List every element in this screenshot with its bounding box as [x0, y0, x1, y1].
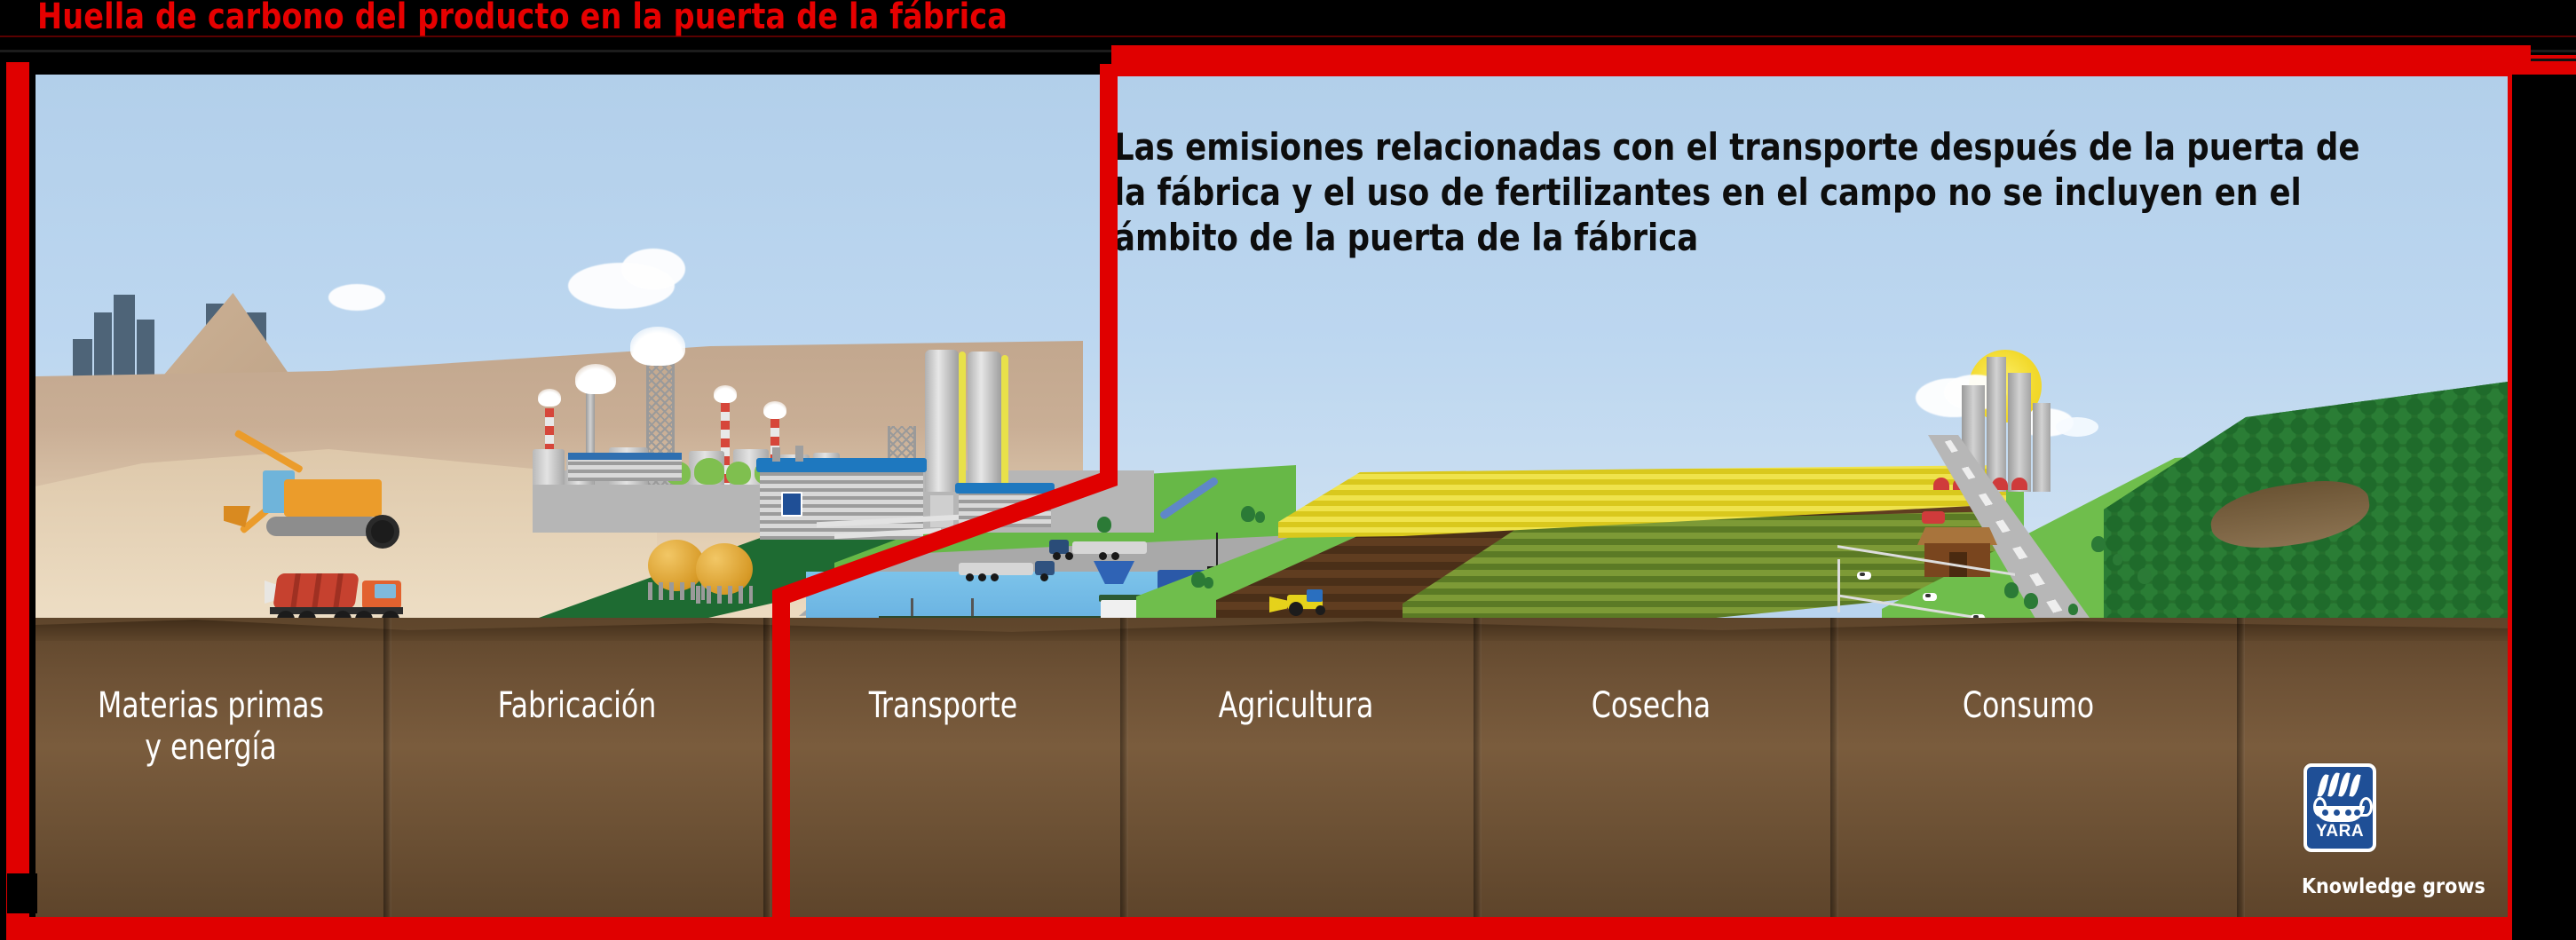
absorber-tower	[925, 350, 959, 492]
excavator-icon	[225, 463, 403, 545]
sphere-legs	[696, 586, 753, 604]
yara-logo-icon: YARA	[2303, 763, 2376, 852]
cloud-icon	[328, 284, 385, 311]
yara-wordmark: YARA	[2307, 822, 2373, 841]
stage-label-materias-primas: Materias primas y energía	[57, 685, 366, 769]
selection-handle[interactable]	[7, 873, 37, 913]
cloud-icon	[621, 249, 685, 289]
plant-chimney	[772, 447, 780, 462]
stage-divider	[1474, 618, 1482, 940]
silo	[930, 495, 953, 527]
tree-icon	[1255, 511, 1265, 523]
absorber-tower	[968, 352, 1001, 492]
plant-yara-sign	[781, 492, 802, 517]
slide-canvas: Huella de carbono del producto en la pue…	[0, 0, 2576, 940]
plant-annex	[959, 490, 1051, 527]
stage-label-agricultura: Agricultura	[1140, 685, 1452, 727]
title-bar: Huella de carbono del producto en la pue…	[0, 0, 2576, 55]
brand-block: YARA Knowledge grows	[2303, 763, 2512, 940]
tower-pipe	[1001, 355, 1008, 492]
stage-divider	[383, 618, 391, 940]
tractor-icon	[1269, 589, 1331, 616]
plant-chimney	[795, 446, 803, 462]
stage-label-fabricacion: Fabricación	[409, 685, 745, 727]
car-icon	[1922, 511, 1945, 524]
soil-cross-section	[36, 618, 2512, 940]
tower-pipe	[959, 352, 966, 492]
tree-icon	[2137, 568, 2152, 584]
stage-divider	[2237, 618, 2245, 940]
tree-icon	[2068, 604, 2078, 615]
cow-icon	[1923, 593, 1937, 601]
scope-top-band-line	[1145, 59, 2576, 61]
right-margin	[2512, 75, 2576, 940]
title-divider	[0, 50, 2576, 52]
tree-icon	[2091, 536, 2106, 552]
tree-icon	[2113, 554, 2122, 565]
stage-divider	[763, 618, 771, 940]
tree-icon	[1097, 517, 1111, 533]
stage-label-cosecha: Cosecha	[1495, 685, 1807, 727]
stage-label-transporte: Transporte	[789, 685, 1098, 727]
stage-label-consumo: Consumo	[1853, 685, 2204, 727]
brand-tagline: Knowledge grows	[2302, 875, 2488, 898]
plant-annex-roof	[955, 483, 1055, 494]
stage-divider	[1830, 618, 1838, 940]
cow-icon	[1857, 572, 1871, 580]
tree-icon	[1204, 577, 1213, 588]
plant-roof	[756, 458, 927, 472]
soil-surface	[36, 618, 2512, 641]
tree-icon	[2024, 593, 2038, 609]
tree-icon	[2004, 582, 2019, 598]
stage-divider	[1120, 618, 1128, 940]
callout-note: Las emisiones relacionadas con el transp…	[1114, 124, 2366, 261]
tree-icon	[1241, 506, 1255, 522]
page-title: Huella de carbono del producto en la pue…	[37, 0, 1007, 37]
